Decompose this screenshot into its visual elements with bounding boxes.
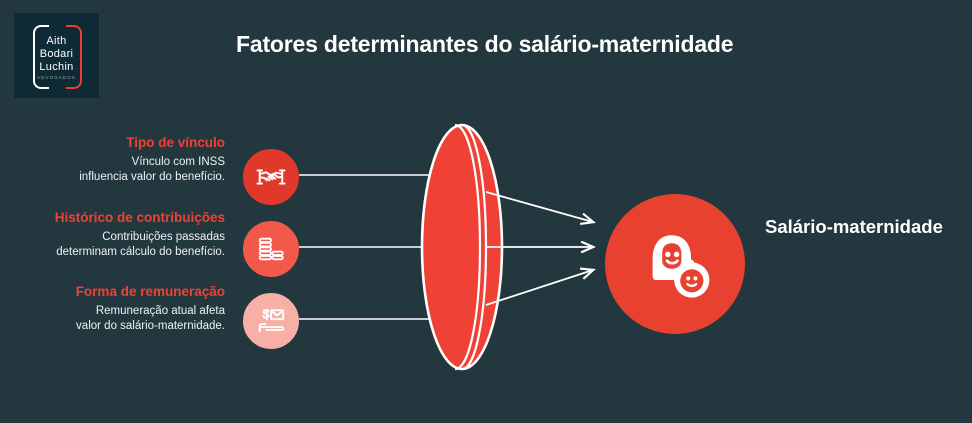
infographic-canvas: Aith Bodari Luchin ADVOGADOS Fatores det…: [0, 0, 972, 423]
mother-and-baby-icon: [635, 224, 715, 304]
outcome-label: Salário-maternidade: [765, 216, 943, 238]
factor-description-line-2: valor do salário-maternidade.: [0, 319, 225, 334]
factor-description-line-2: determinam cálculo do benefício.: [0, 245, 225, 260]
lens-funnel-shape: [422, 125, 502, 369]
factor-block-forma-de-remuneracao: Forma de remuneração Remuneração atual a…: [0, 283, 225, 334]
factor-heading: Histórico de contribuições: [0, 209, 225, 226]
handshake-icon: [256, 162, 286, 192]
outcome-circle: [605, 194, 745, 334]
factor-description-line-1: Remuneração atual afeta: [0, 304, 225, 319]
factor-heading: Forma de remuneração: [0, 283, 225, 300]
logo-line-2: Bodari: [14, 48, 99, 61]
factor-description-line-2: influencia valor do benefício.: [0, 170, 225, 185]
factor-description-line-1: Contribuições passadas: [0, 230, 225, 245]
connector-output-3: [486, 270, 593, 305]
factor-icon-circle-3: [241, 291, 301, 351]
logo-subtitle: ADVOGADOS: [14, 75, 99, 80]
connector-output-1: [486, 192, 593, 222]
money-envelope-icon: [256, 306, 286, 336]
coins-stack-icon: [256, 234, 286, 264]
page-title: Fatores determinantes do salário-materni…: [236, 31, 733, 58]
logo-line-1: Aith: [14, 35, 99, 48]
factor-description-line-1: Vínculo com INSS: [0, 155, 225, 170]
factor-icon-circle-1: [241, 147, 301, 207]
logo-line-3: Luchin: [14, 61, 99, 74]
factor-block-historico-de-contribuicoes: Histórico de contribuições Contribuições…: [0, 209, 225, 260]
logo: Aith Bodari Luchin ADVOGADOS: [14, 13, 99, 98]
factor-heading: Tipo de vínculo: [0, 134, 225, 151]
factor-icon-circle-2: [241, 219, 301, 279]
factor-block-tipo-de-vinculo: Tipo de vínculo Vínculo com INSS influen…: [0, 134, 225, 185]
